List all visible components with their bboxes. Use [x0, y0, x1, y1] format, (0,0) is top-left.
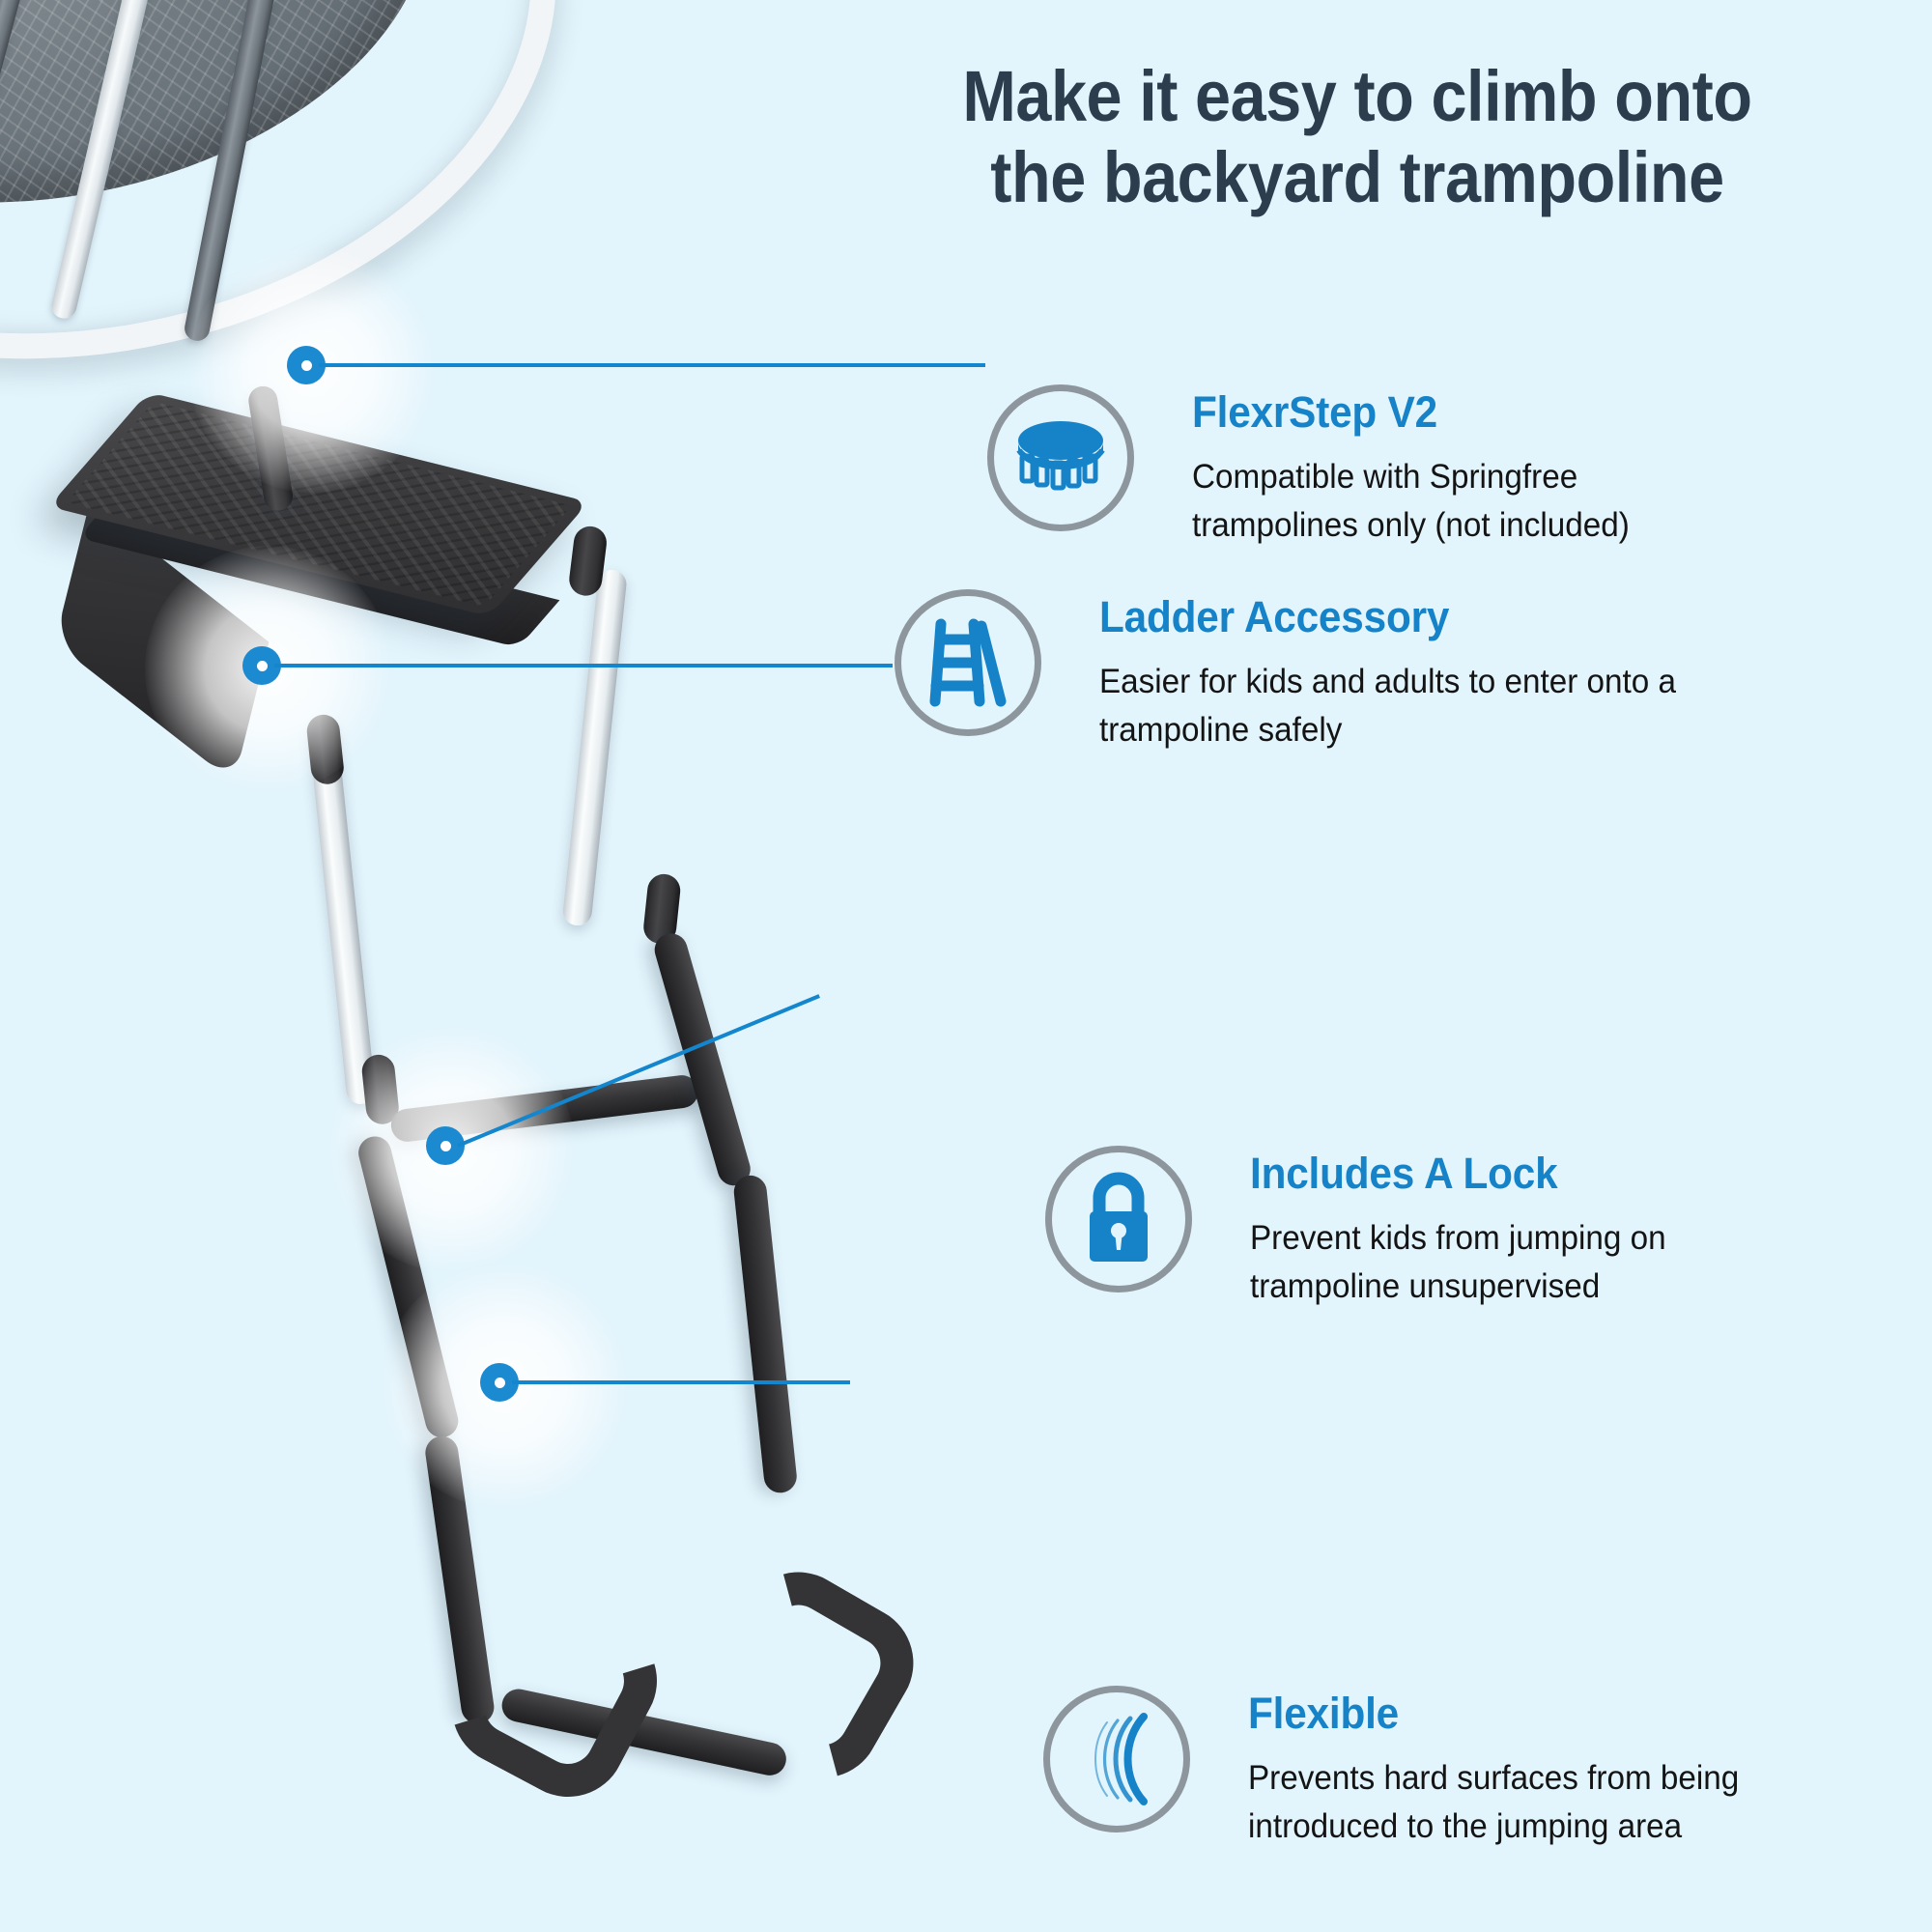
connector-line-flexrstep-v2 — [319, 363, 985, 367]
ladder-icon-glyph — [923, 614, 1012, 711]
feature-description-line-2: trampoline unsupervised — [1250, 1263, 1666, 1311]
ladder-icon — [895, 589, 1041, 736]
connector-line-ladder-accessory — [274, 664, 893, 668]
feature-flexrstep-v2: FlexrStep V2 Compatible with Springfree … — [987, 384, 1653, 549]
feature-title: FlexrStep V2 — [1192, 390, 1625, 434]
feature-description-line-1: Prevents hard surfaces from being — [1248, 1754, 1739, 1803]
feature-flexible: Flexible Prevents hard surfaces from bei… — [1043, 1686, 1765, 1850]
feature-description-line-2: introduced to the jumping area — [1248, 1803, 1739, 1851]
connector-line-flexible — [512, 1380, 850, 1384]
feature-title: Ladder Accessory — [1099, 595, 1670, 639]
feature-title: Includes A Lock — [1250, 1151, 1662, 1195]
headline-line-2: the backyard trampoline — [884, 137, 1832, 218]
infographic-canvas: Make it easy to climb onto the backyard … — [0, 0, 1932, 1932]
ladder-leg-cap — [305, 713, 345, 785]
product-illustration — [0, 0, 1140, 1932]
feature-description-line-1: Prevent kids from jumping on — [1250, 1214, 1666, 1263]
feature-description-line-2: trampoline safely — [1099, 706, 1676, 754]
lock-icon — [1045, 1146, 1192, 1293]
ladder-frame-left — [355, 1133, 462, 1441]
lock-icon-glyph — [1077, 1171, 1160, 1267]
flex-arcs-icon-glyph — [1072, 1709, 1161, 1809]
feature-includes-a-lock: Includes A Lock Prevent kids from jumpin… — [1045, 1146, 1688, 1310]
feature-text: Flexible Prevents hard surfaces from bei… — [1248, 1686, 1765, 1850]
feature-text: Includes A Lock Prevent kids from jumpin… — [1250, 1146, 1688, 1310]
feature-description-line-2: trampolines only (not included) — [1192, 501, 1630, 550]
headline-line-1: Make it easy to climb onto — [884, 56, 1832, 137]
trampoline-icon — [987, 384, 1134, 531]
page-headline: Make it easy to climb onto the backyard … — [884, 56, 1832, 219]
flex-arcs-icon — [1043, 1686, 1190, 1833]
feature-text: FlexrStep V2 Compatible with Springfree … — [1192, 384, 1653, 549]
feature-description-line-1: Easier for kids and adults to enter onto… — [1099, 658, 1676, 706]
ladder-frame-right-lower — [732, 1174, 798, 1494]
feature-title: Flexible — [1248, 1691, 1734, 1735]
trampoline-icon-glyph — [1010, 417, 1111, 498]
feature-text: Ladder Accessory Easier for kids and adu… — [1099, 589, 1706, 753]
feature-description-line-1: Compatible with Springfree — [1192, 453, 1630, 501]
feature-ladder-accessory: Ladder Accessory Easier for kids and adu… — [895, 589, 1706, 753]
